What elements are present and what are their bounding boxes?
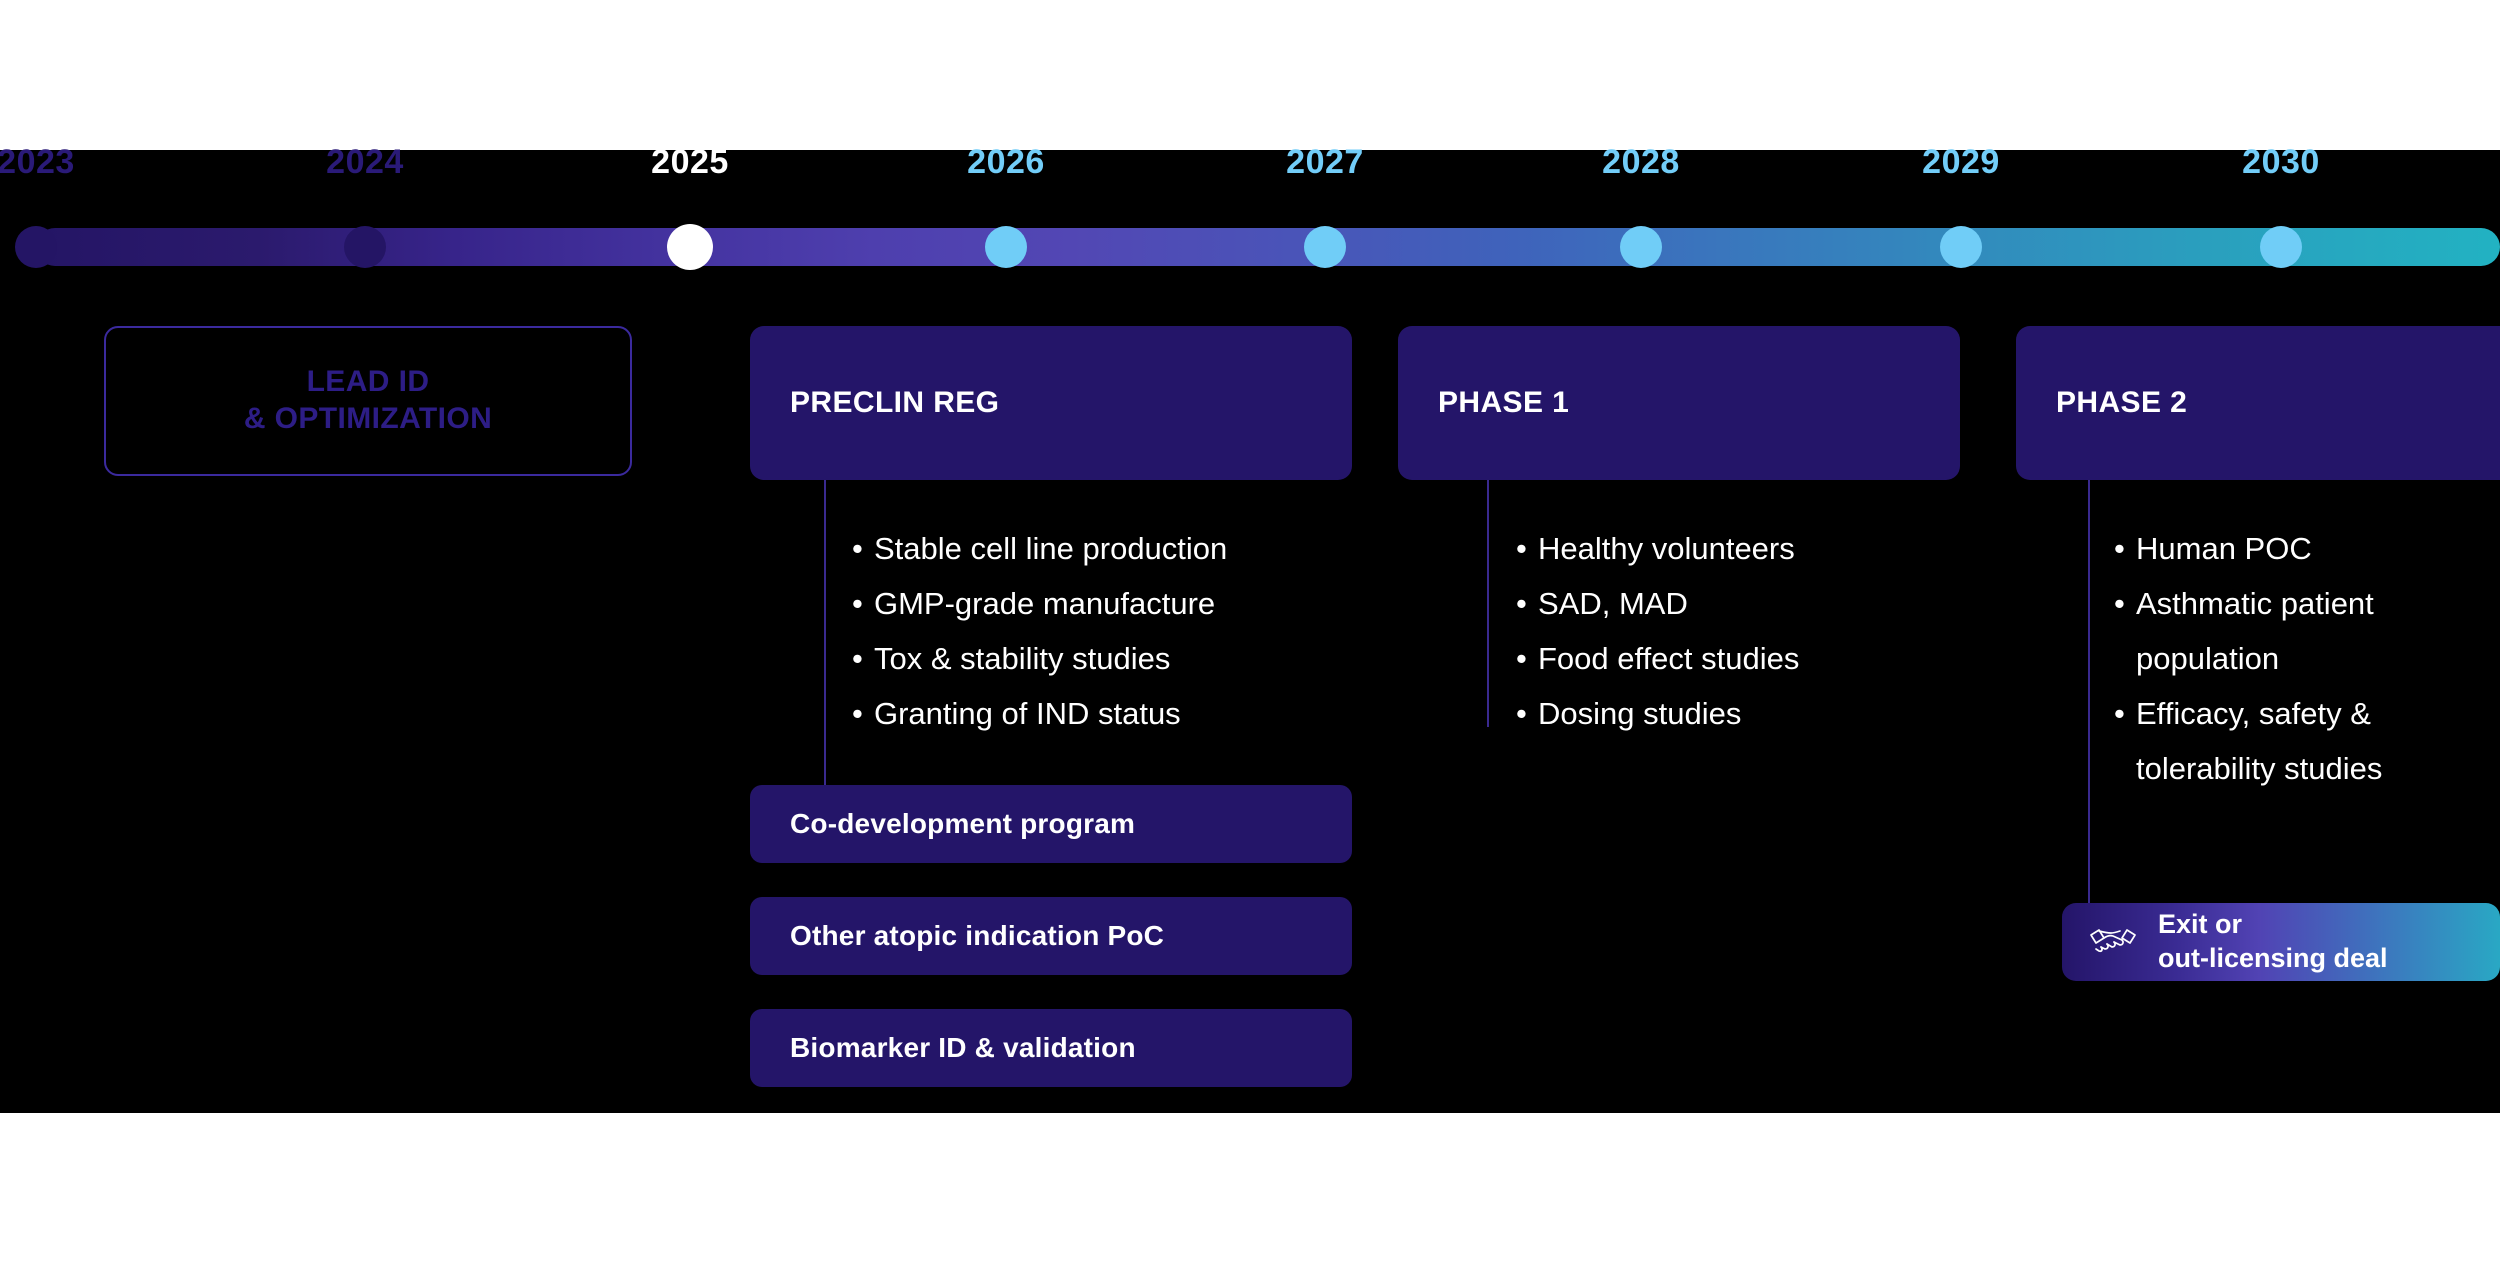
bullet-dot-icon: • xyxy=(2114,576,2136,631)
bullet-dot-icon: • xyxy=(1516,521,1538,576)
workstream-label: Other atopic indication PoC xyxy=(750,920,1164,952)
bullet-text: population xyxy=(2136,631,2279,686)
bullet-text: SAD, MAD xyxy=(1538,576,1688,631)
workstream-bar[interactable]: Co-development program xyxy=(750,785,1352,863)
bullet-dot-icon: • xyxy=(852,521,874,576)
bullet-item: •SAD, MAD xyxy=(1516,576,1799,631)
bullet-dot-icon: • xyxy=(2114,521,2136,576)
roadmap-timeline-diagram: 20232024202520262027202820292030 LEAD ID… xyxy=(0,0,2500,1273)
exit-badge-label: Exit or out-licensing deal xyxy=(2142,908,2388,976)
bullet-item: •Asthmatic patient xyxy=(2114,576,2382,631)
phase-box-phase-1[interactable]: PHASE 1 xyxy=(1398,326,1960,480)
bullet-text: Human POC xyxy=(2136,521,2312,576)
timeline-milestone-dot-2029[interactable] xyxy=(1940,226,1982,268)
bullet-dot-icon: • xyxy=(1516,576,1538,631)
bullet-text: Dosing studies xyxy=(1538,686,1741,741)
timeline-milestone-dot-2030[interactable] xyxy=(2260,226,2302,268)
workstream-label: Co-development program xyxy=(750,808,1135,840)
bullet-text: Healthy volunteers xyxy=(1538,521,1795,576)
timeline-milestone-dot-2023[interactable] xyxy=(15,226,57,268)
bullet-list-preclin-reg: •Stable cell line production•GMP-grade m… xyxy=(852,521,1227,741)
workstream-bar[interactable]: Biomarker ID & validation xyxy=(750,1009,1352,1087)
bullet-item: •Tox & stability studies xyxy=(852,631,1227,686)
bullet-text: Granting of IND status xyxy=(874,686,1181,741)
timeline-year-label-2027: 2027 xyxy=(1286,143,1364,182)
timeline-milestone-dot-2027[interactable] xyxy=(1304,226,1346,268)
bullet-item: •Healthy volunteers xyxy=(1516,521,1799,576)
phase-box-lead-id[interactable]: LEAD ID & OPTIMIZATION xyxy=(104,326,632,476)
bullet-dot-icon: • xyxy=(852,631,874,686)
timeline-milestone-dot-2024[interactable] xyxy=(344,226,386,268)
bullet-text: Stable cell line production xyxy=(874,521,1227,576)
bullet-text: Efficacy, safety & xyxy=(2136,686,2371,741)
bullet-text: GMP-grade manufacture xyxy=(874,576,1215,631)
bullet-dot-icon: • xyxy=(1516,631,1538,686)
timeline-track xyxy=(36,228,2500,266)
workstream-label: Biomarker ID & validation xyxy=(750,1032,1136,1064)
timeline-year-label-2028: 2028 xyxy=(1602,143,1680,182)
bullet-dot-icon: • xyxy=(852,576,874,631)
bullet-list-phase-1: •Healthy volunteers•SAD, MAD•Food effect… xyxy=(1516,521,1799,741)
bullet-list-phase-2: •Human POC•Asthmatic patient•population•… xyxy=(2114,521,2382,796)
phase-box-preclin-reg[interactable]: PRECLIN REG xyxy=(750,326,1352,480)
bullet-item: •Human POC xyxy=(2114,521,2382,576)
bullet-item: •tolerability studies xyxy=(2114,741,2382,796)
phase-title-preclin-reg: PRECLIN REG xyxy=(750,386,999,420)
timeline-year-label-2024: 2024 xyxy=(326,143,404,182)
timeline-milestone-dot-2026[interactable] xyxy=(985,226,1027,268)
bullet-dot-icon: • xyxy=(852,686,874,741)
bullet-item: •Granting of IND status xyxy=(852,686,1227,741)
connector-phase-1 xyxy=(1487,480,1489,727)
bullet-dot-icon: • xyxy=(1516,686,1538,741)
timeline-year-label-2026: 2026 xyxy=(967,143,1045,182)
bullet-item: •Stable cell line production xyxy=(852,521,1227,576)
phase-box-phase-2[interactable]: PHASE 2 xyxy=(2016,326,2500,480)
bullet-text: Asthmatic patient xyxy=(2136,576,2374,631)
timeline-year-label-2023: 2023 xyxy=(0,143,75,182)
timeline-year-label-2030: 2030 xyxy=(2242,143,2320,182)
bullet-item: •Dosing studies xyxy=(1516,686,1799,741)
handshake-icon xyxy=(2084,925,2142,959)
timeline-milestone-dot-2028[interactable] xyxy=(1620,226,1662,268)
bullet-item: •Food effect studies xyxy=(1516,631,1799,686)
connector-preclin-reg xyxy=(824,480,826,785)
bullet-text: tolerability studies xyxy=(2136,741,2382,796)
bullet-item: •GMP-grade manufacture xyxy=(852,576,1227,631)
workstream-bar[interactable]: Other atopic indication PoC xyxy=(750,897,1352,975)
connector-phase-2 xyxy=(2088,480,2090,905)
timeline-year-label-2025: 2025 xyxy=(651,143,729,182)
phase-title-phase-2: PHASE 2 xyxy=(2016,386,2187,420)
phase-title-phase-1: PHASE 1 xyxy=(1398,386,1569,420)
bullet-text: Tox & stability studies xyxy=(874,631,1170,686)
bullet-item: •population xyxy=(2114,631,2382,686)
phase-title-lead-id: LEAD ID & OPTIMIZATION xyxy=(244,364,492,437)
bullet-text: Food effect studies xyxy=(1538,631,1799,686)
bullet-dot-icon: • xyxy=(2114,686,2136,741)
bullet-item: •Efficacy, safety & xyxy=(2114,686,2382,741)
timeline-year-label-2029: 2029 xyxy=(1922,143,2000,182)
timeline-milestone-dot-2025[interactable] xyxy=(667,224,713,270)
exit-or-out-licensing-deal-badge[interactable]: Exit or out-licensing deal xyxy=(2062,903,2500,981)
